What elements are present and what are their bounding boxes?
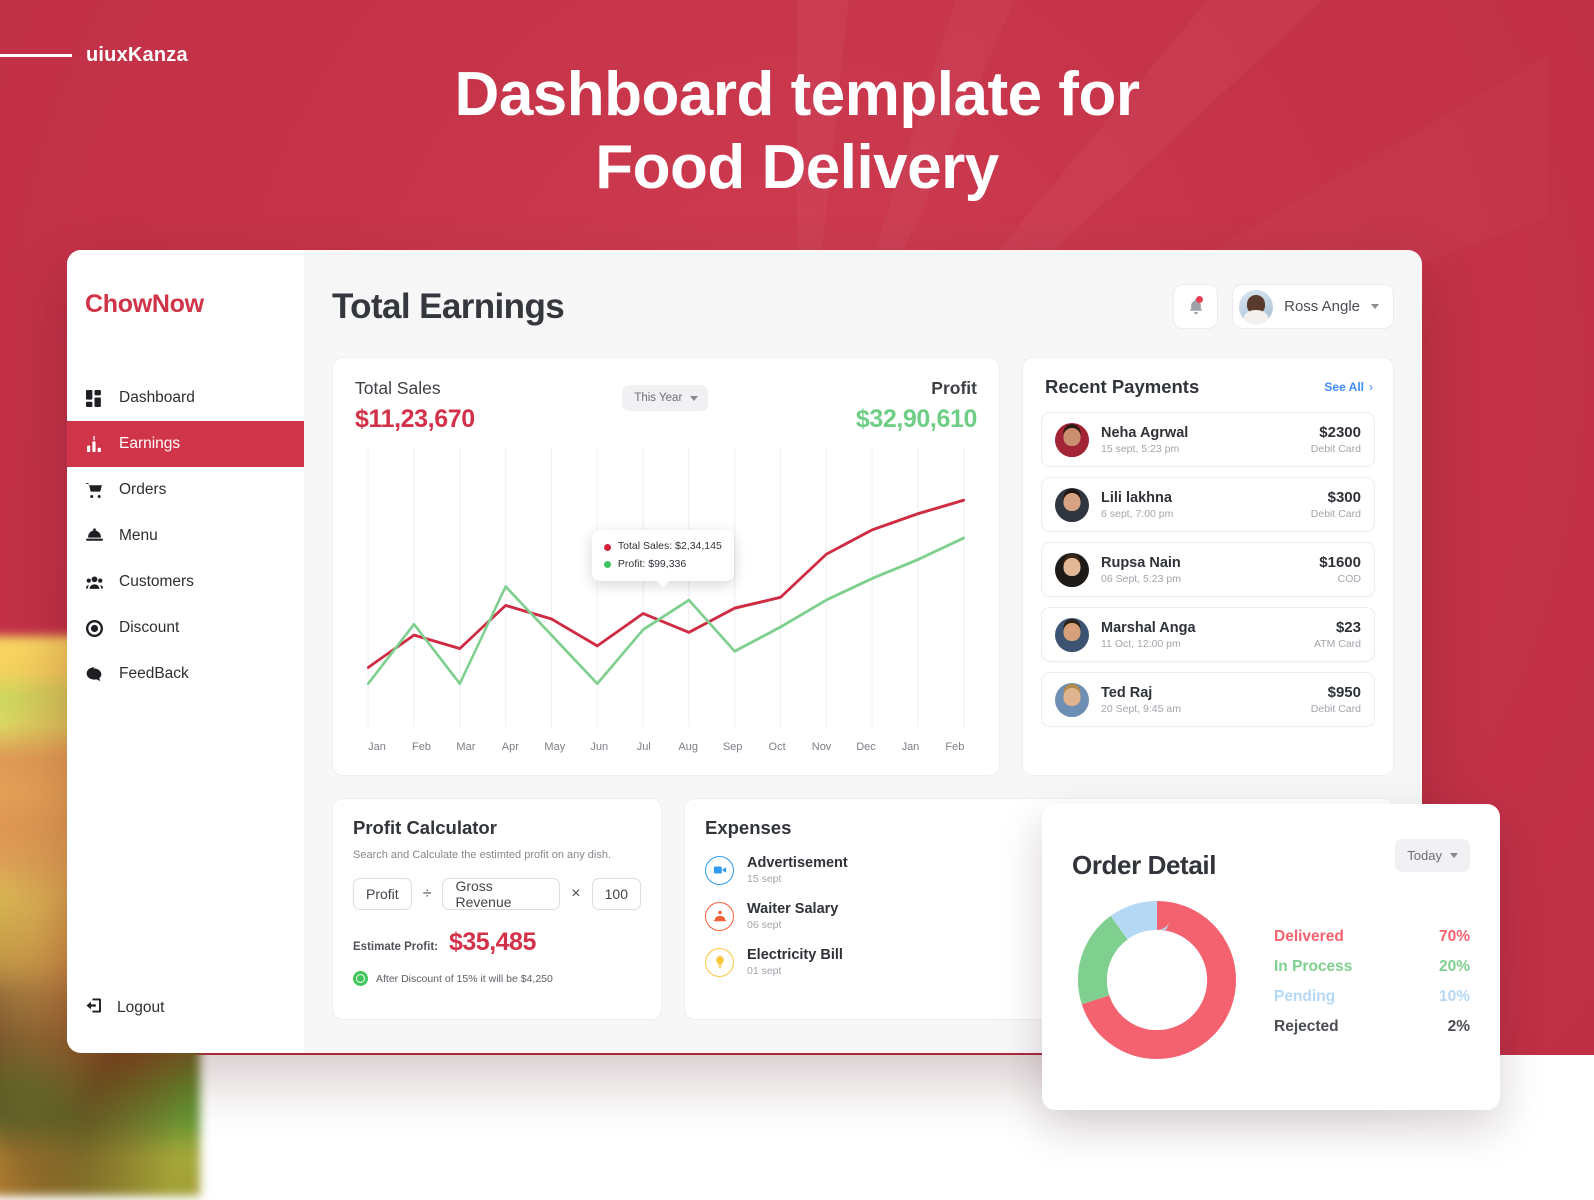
sidebar: ChowNow Dashboard Earnings Orders — [67, 250, 304, 1053]
brand-rule — [0, 54, 72, 57]
sidebar-item-label: Discount — [119, 619, 179, 637]
chevron-down-icon — [690, 396, 698, 401]
line-chart-svg — [355, 448, 977, 737]
payment-name: Marshal Anga — [1101, 620, 1302, 636]
page-title: Total Earnings — [332, 287, 564, 327]
payment-info: Neha Agrwal 15 sept, 5:23 pm — [1101, 425, 1299, 455]
legend-row: In Process 20% — [1274, 958, 1470, 976]
target-icon — [85, 619, 104, 638]
donut-svg — [1072, 895, 1242, 1065]
topbar: Total Earnings Ross Angle — [332, 284, 1394, 329]
grid-icon — [85, 389, 104, 408]
tooltip-profit-text: Profit: $99,336 — [618, 556, 686, 573]
legend-row: Pending 10% — [1274, 988, 1470, 1006]
sidebar-item-label: Menu — [119, 527, 158, 545]
tooltip-profit-dot — [604, 561, 611, 568]
x-axis-label: Sep — [711, 741, 755, 753]
discount-note-text: After Discount of 15% it will be $4,250 — [376, 973, 553, 985]
order-range-select[interactable]: Today — [1395, 839, 1470, 872]
chevron-down-icon — [1450, 853, 1458, 858]
payment-amount-block: $23 ATM Card — [1314, 619, 1361, 650]
profit-value: $32,90,610 — [856, 405, 977, 434]
sidebar-item-label: Orders — [119, 481, 166, 499]
total-sales-card: Total Sales $11,23,670 This Year Profit … — [332, 357, 1000, 776]
tooltip-sales-row: Total Sales: $2,34,145 — [604, 538, 722, 555]
chart-tooltip: Total Sales: $2,34,145 Profit: $99,336 — [592, 530, 734, 581]
hero-title-line1: Dashboard template for — [0, 58, 1594, 131]
legend-row: Rejected 2% — [1274, 1018, 1470, 1036]
avatar — [1239, 290, 1273, 324]
payment-info: Rupsa Nain 06 Sept, 5:23 pm — [1101, 555, 1307, 585]
payment-method: ATM Card — [1314, 638, 1361, 650]
payment-method: Debit Card — [1311, 443, 1361, 455]
profit-calculator-subtitle: Search and Calculate the estimted profit… — [353, 849, 641, 861]
sidebar-item-feedback[interactable]: FeedBack — [67, 651, 304, 697]
payment-row[interactable]: Ted Raj 20 Sept, 9:45 am $950 Debit Card — [1041, 672, 1375, 727]
order-range-label: Today — [1407, 848, 1442, 863]
sidebar-item-orders[interactable]: Orders — [67, 467, 304, 513]
payment-date: 20 Sept, 9:45 am — [1101, 703, 1299, 715]
payment-date: 15 sept, 5:23 pm — [1101, 443, 1299, 455]
users-icon — [85, 573, 104, 592]
legend-label: In Process — [1274, 958, 1352, 976]
sidebar-item-label: Dashboard — [119, 389, 195, 407]
recent-payments-list: Neha Agrwal 15 sept, 5:23 pm $2300 Debit… — [1041, 412, 1375, 727]
payment-name: Neha Agrwal — [1101, 425, 1299, 441]
payment-method: Debit Card — [1311, 508, 1361, 520]
cart-icon — [85, 481, 104, 500]
notifications-button[interactable] — [1173, 284, 1218, 329]
estimate-profit-row: Estimate Profit: $35,485 — [353, 928, 641, 957]
earnings-line-chart: Total Sales: $2,34,145 Profit: $99,336 — [355, 448, 977, 737]
multiplier-input[interactable]: 100 — [592, 878, 641, 910]
order-detail-header: Order Detail Today — [1072, 832, 1470, 881]
hero-title-line2: Food Delivery — [0, 131, 1594, 204]
see-all-label: See All — [1324, 380, 1364, 394]
sidebar-item-menu[interactable]: Menu — [67, 513, 304, 559]
x-axis-label: Nov — [800, 741, 844, 753]
legend-row: Delivered 70% — [1274, 928, 1470, 946]
sidebar-item-label: FeedBack — [119, 665, 189, 683]
brand-watermark: uiuxKanza — [0, 44, 188, 67]
tooltip-profit-row: Profit: $99,336 — [604, 556, 722, 573]
avatar — [1055, 488, 1089, 522]
order-detail-title: Order Detail — [1072, 850, 1216, 881]
total-sales-header: Total Sales $11,23,670 This Year Profit … — [355, 378, 977, 434]
sidebar-item-label: Earnings — [119, 435, 180, 453]
x-axis-label: Jan — [355, 741, 399, 753]
waiter-icon — [705, 902, 734, 931]
x-axis-label: Mar — [444, 741, 488, 753]
profit-input[interactable]: Profit — [353, 878, 412, 910]
expenses-title: Expenses — [705, 817, 791, 839]
x-axis-label: Oct — [755, 741, 799, 753]
payment-amount: $2300 — [1311, 424, 1361, 441]
legend-value: 70% — [1418, 928, 1470, 946]
order-detail-legend: Delivered 70% In Process 20% Pending 10%… — [1274, 924, 1470, 1036]
payment-info: Marshal Anga 11 Oct, 12:00 pm — [1101, 620, 1302, 650]
topbar-actions: Ross Angle — [1173, 284, 1394, 329]
payment-info: Ted Raj 20 Sept, 9:45 am — [1101, 685, 1299, 715]
total-sales-value: $11,23,670 — [355, 405, 475, 434]
x-axis-label: Jan — [888, 741, 932, 753]
legend-label: Rejected — [1274, 1018, 1339, 1036]
profit-label: Profit — [856, 378, 977, 399]
x-axis-label: Jul — [622, 741, 666, 753]
divide-operator-icon: ÷ — [423, 885, 432, 903]
x-axis-label: Aug — [666, 741, 710, 753]
bulb-icon — [705, 948, 734, 977]
payment-method: COD — [1319, 573, 1361, 585]
order-detail-body: Delivered 70% In Process 20% Pending 10%… — [1072, 895, 1470, 1065]
avatar — [1055, 423, 1089, 457]
x-axis-label: Apr — [488, 741, 532, 753]
brand-tag: uiuxKanza — [86, 44, 188, 67]
sidebar-item-discount[interactable]: Discount — [67, 605, 304, 651]
legend-label: Pending — [1274, 988, 1335, 1006]
profit-stat: Profit $32,90,610 — [856, 378, 977, 434]
year-range-label: This Year — [634, 392, 682, 404]
legend-value: 20% — [1418, 958, 1470, 976]
recent-payments-header: Recent Payments See All › — [1041, 376, 1375, 398]
video-icon — [705, 856, 734, 885]
payment-amount-block: $950 Debit Card — [1311, 684, 1361, 715]
legend-value: 10% — [1418, 988, 1470, 1006]
multiply-operator-icon: × — [571, 885, 580, 903]
content-row-top: Total Sales $11,23,670 This Year Profit … — [332, 357, 1394, 776]
logout-icon — [85, 997, 102, 1019]
payment-amount-block: $300 Debit Card — [1311, 489, 1361, 520]
chart-x-axis: JanFebMarAprMayJunJulAugSepOctNovDecJanF… — [355, 737, 977, 763]
payment-amount: $300 — [1311, 489, 1361, 506]
avatar — [1055, 683, 1089, 717]
recent-payments-card: Recent Payments See All › Neha Agrwal 15… — [1022, 357, 1394, 776]
order-donut-chart — [1072, 895, 1242, 1065]
payment-row[interactable]: Lili lakhna 6 sept, 7:00 pm $300 Debit C… — [1041, 477, 1375, 532]
payment-amount-block: $2300 Debit Card — [1311, 424, 1361, 455]
payment-name: Rupsa Nain — [1101, 555, 1307, 571]
bar-chart-icon — [85, 435, 104, 454]
sidebar-item-dashboard[interactable]: Dashboard — [67, 375, 304, 421]
total-sales-label: Total Sales — [355, 378, 475, 399]
discount-icon — [353, 971, 368, 986]
avatar — [1055, 553, 1089, 587]
sidebar-item-earnings[interactable]: Earnings — [67, 421, 304, 467]
total-sales-stat: Total Sales $11,23,670 — [355, 378, 475, 434]
legend-label: Delivered — [1274, 928, 1344, 946]
profit-calculator-card: Profit Calculator Search and Calculate t… — [332, 798, 662, 1020]
x-axis-label: May — [533, 741, 577, 753]
tooltip-sales-dot — [604, 544, 611, 551]
cloche-icon — [85, 527, 104, 546]
hero-title: Dashboard template for Food Delivery — [0, 58, 1594, 204]
payment-row[interactable]: Neha Agrwal 15 sept, 5:23 pm $2300 Debit… — [1041, 412, 1375, 467]
recent-payments-see-all[interactable]: See All › — [1324, 380, 1373, 394]
year-range-select[interactable]: This Year — [622, 385, 708, 411]
x-axis-label: Feb — [933, 741, 977, 753]
x-axis-label: Feb — [399, 741, 443, 753]
estimate-profit-label: Estimate Profit: — [353, 941, 438, 953]
logout-label: Logout — [117, 999, 164, 1017]
sidebar-item-label: Customers — [119, 573, 194, 591]
profile-name: Ross Angle — [1284, 298, 1360, 315]
tooltip-sales-text: Total Sales: $2,34,145 — [618, 538, 722, 555]
sidebar-item-customers[interactable]: Customers — [67, 559, 304, 605]
payment-amount: $950 — [1311, 684, 1361, 701]
chevron-right-icon: › — [1369, 380, 1373, 394]
profit-calculator-title: Profit Calculator — [353, 817, 641, 839]
recent-payments-title: Recent Payments — [1045, 376, 1199, 398]
order-detail-card: Order Detail Today Delivered 70% In Proc… — [1042, 804, 1500, 1110]
payment-info: Lili lakhna 6 sept, 7:00 pm — [1101, 490, 1299, 520]
chat-icon — [85, 665, 104, 684]
payment-date: 11 Oct, 12:00 pm — [1101, 638, 1302, 650]
payment-row[interactable]: Rupsa Nain 06 Sept, 5:23 pm $1600 COD — [1041, 542, 1375, 597]
estimate-profit-value: $35,485 — [449, 928, 536, 957]
payment-amount: $1600 — [1319, 554, 1361, 571]
sidebar-nav: Dashboard Earnings Orders Menu — [67, 375, 304, 697]
payment-name: Ted Raj — [1101, 685, 1299, 701]
legend-value: 2% — [1418, 1018, 1470, 1036]
payment-date: 06 Sept, 5:23 pm — [1101, 573, 1307, 585]
gross-revenue-input[interactable]: Gross Revenue — [442, 878, 560, 910]
profit-calculator-formula: Profit ÷ Gross Revenue × 100 — [353, 878, 641, 910]
payment-amount-block: $1600 COD — [1319, 554, 1361, 585]
x-axis-label: Dec — [844, 741, 888, 753]
avatar — [1055, 618, 1089, 652]
payment-amount: $23 — [1314, 619, 1361, 636]
payment-row[interactable]: Marshal Anga 11 Oct, 12:00 pm $23 ATM Ca… — [1041, 607, 1375, 662]
payment-method: Debit Card — [1311, 703, 1361, 715]
logout-button[interactable]: Logout — [67, 997, 304, 1053]
payment-name: Lili lakhna — [1101, 490, 1299, 506]
sidebar-spacer — [67, 697, 304, 997]
x-axis-label: Jun — [577, 741, 621, 753]
payment-date: 6 sept, 7:00 pm — [1101, 508, 1299, 520]
profile-menu[interactable]: Ross Angle — [1232, 284, 1394, 329]
discount-note: After Discount of 15% it will be $4,250 — [353, 971, 641, 986]
app-logo: ChowNow — [67, 278, 304, 319]
chevron-down-icon — [1371, 304, 1379, 309]
